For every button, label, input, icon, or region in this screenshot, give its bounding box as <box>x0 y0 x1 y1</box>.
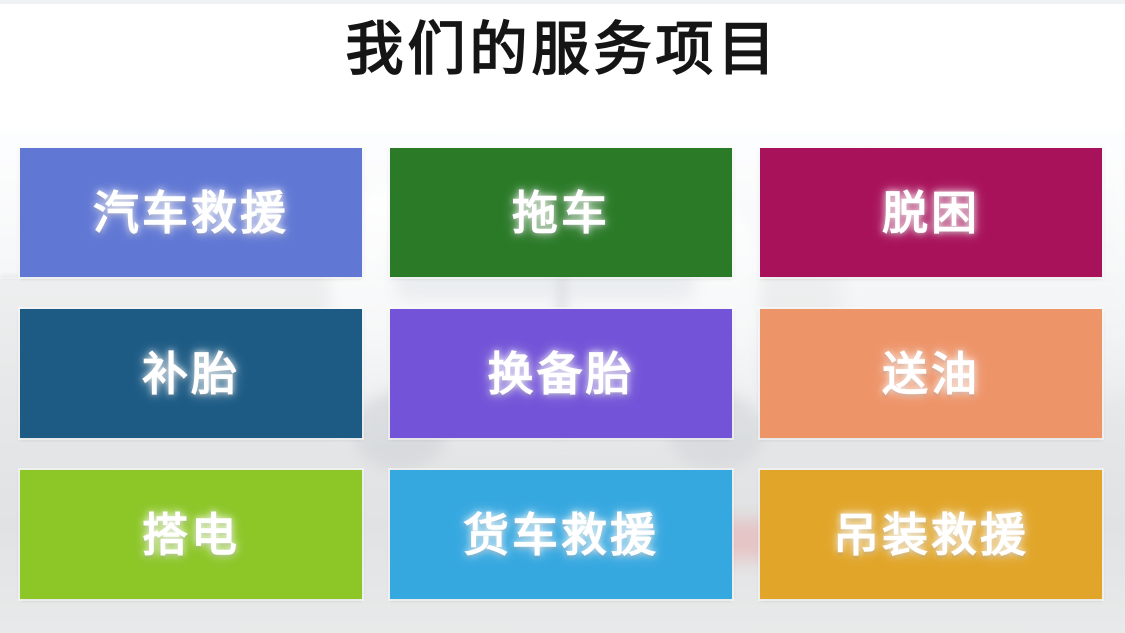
service-tile-label: 送油 <box>882 351 980 397</box>
service-tile-crane-rescue[interactable]: 吊装救援 <box>760 470 1102 599</box>
title-band: 我们的服务项目 <box>0 0 1125 133</box>
service-tile-jump-start[interactable]: 搭电 <box>20 470 362 599</box>
service-grid: 汽车救援 拖车 脱困 补胎 换备胎 送油 搭电 货车救援 吊装救援 <box>20 148 1103 598</box>
service-poster: 我们的服务项目 汽车救援 拖车 脱困 补胎 换备胎 送油 搭电 货车救援 吊装救… <box>0 0 1125 633</box>
top-rule <box>0 0 1125 4</box>
service-tile-label: 拖车 <box>512 190 610 236</box>
page-title: 我们的服务项目 <box>345 21 779 79</box>
service-tile-label: 脱困 <box>882 190 980 236</box>
service-tile-fuel-delivery[interactable]: 送油 <box>760 309 1102 438</box>
service-tile-spare-tire-change[interactable]: 换备胎 <box>390 309 732 438</box>
service-tile-label: 汽车救援 <box>93 190 289 236</box>
service-tile-label: 补胎 <box>142 351 240 397</box>
service-tile-towing[interactable]: 拖车 <box>390 148 732 277</box>
service-tile-car-rescue[interactable]: 汽车救援 <box>20 148 362 277</box>
service-tile-extrication[interactable]: 脱困 <box>760 148 1102 277</box>
service-tile-label: 货车救援 <box>463 512 659 558</box>
service-tile-label: 换备胎 <box>488 351 635 397</box>
service-tile-label: 吊装救援 <box>833 512 1029 558</box>
service-tile-tire-repair[interactable]: 补胎 <box>20 309 362 438</box>
service-tile-label: 搭电 <box>142 512 240 558</box>
service-tile-truck-rescue[interactable]: 货车救援 <box>390 470 732 599</box>
